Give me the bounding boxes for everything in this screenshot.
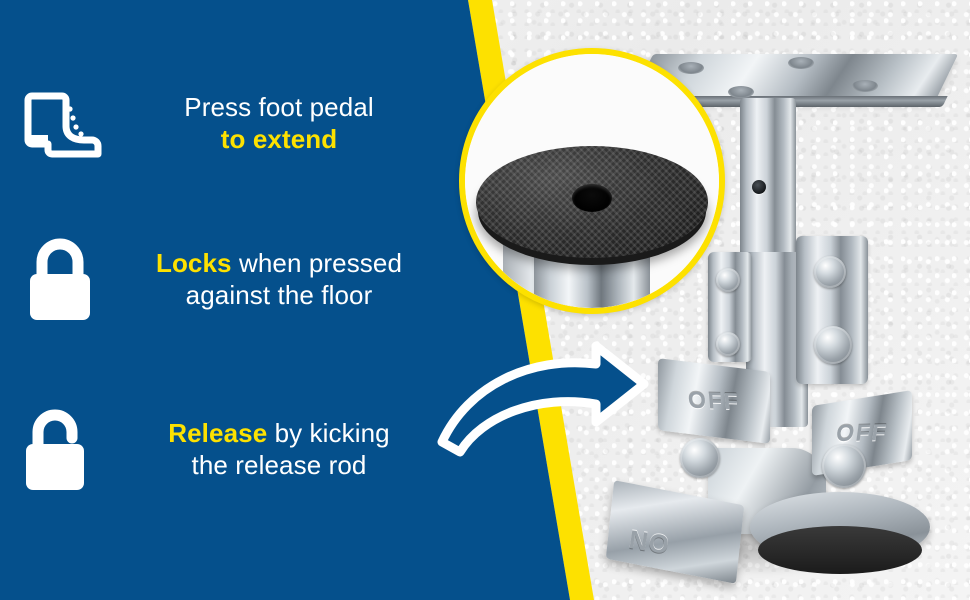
release-lever-left: OFF — [658, 358, 770, 444]
plate-bolt-hole — [852, 80, 878, 92]
feature-release-line2: the release rod — [124, 450, 434, 482]
feature-lock-line2: against the floor — [124, 280, 434, 312]
base-rubber-pad — [758, 526, 922, 574]
feature-extend-line2: to extend — [124, 124, 434, 156]
feature-release-line1-rest: by kicking — [267, 418, 389, 448]
plate-bolt-hole — [788, 57, 814, 69]
infographic-canvas: OFF OFF ON — [0, 0, 970, 600]
boot-icon — [14, 82, 106, 166]
hex-bolt — [814, 256, 846, 288]
feature-release: Release by kicking the release rod — [14, 404, 434, 496]
hex-bolt — [716, 268, 740, 292]
pedal-stamp: ON — [626, 523, 671, 560]
curved-pointer-arrow — [420, 330, 660, 470]
feature-extend: Press foot pedal to extend — [14, 82, 434, 166]
feature-lock-highlight: Locks — [156, 248, 232, 278]
closeup-inset-content — [465, 54, 719, 308]
closeup-inset-circle — [459, 48, 725, 314]
feature-release-highlight: Release — [168, 418, 267, 448]
feature-lock: Locks when pressed against the floor — [14, 236, 434, 324]
lever-left-stamp: OFF — [657, 385, 771, 416]
inset-pad-center-hole — [572, 184, 612, 212]
pivot-bolt — [680, 438, 720, 478]
pivot-bolt — [822, 444, 866, 488]
hex-bolt — [814, 326, 852, 364]
feature-lock-text: Locks when pressed against the floor — [124, 248, 434, 311]
tube-adjustment-hole — [752, 180, 766, 194]
hex-bolt — [716, 332, 740, 356]
feature-lock-line1-rest: when pressed — [232, 248, 402, 278]
inset-rubber-pad — [476, 146, 708, 258]
feature-release-text: Release by kicking the release rod — [124, 418, 434, 481]
feature-extend-text: Press foot pedal to extend — [124, 92, 434, 155]
feature-list: Press foot pedal to extend Locks when pr… — [0, 0, 470, 600]
feature-extend-line1: Press foot pedal — [184, 92, 374, 122]
plate-bolt-hole — [678, 62, 704, 74]
lock-open-icon — [14, 404, 106, 496]
upper-tube — [740, 98, 796, 268]
lever-right-stamp: OFF — [811, 418, 914, 447]
plate-bolt-hole — [728, 86, 754, 98]
lock-closed-icon — [14, 236, 106, 324]
